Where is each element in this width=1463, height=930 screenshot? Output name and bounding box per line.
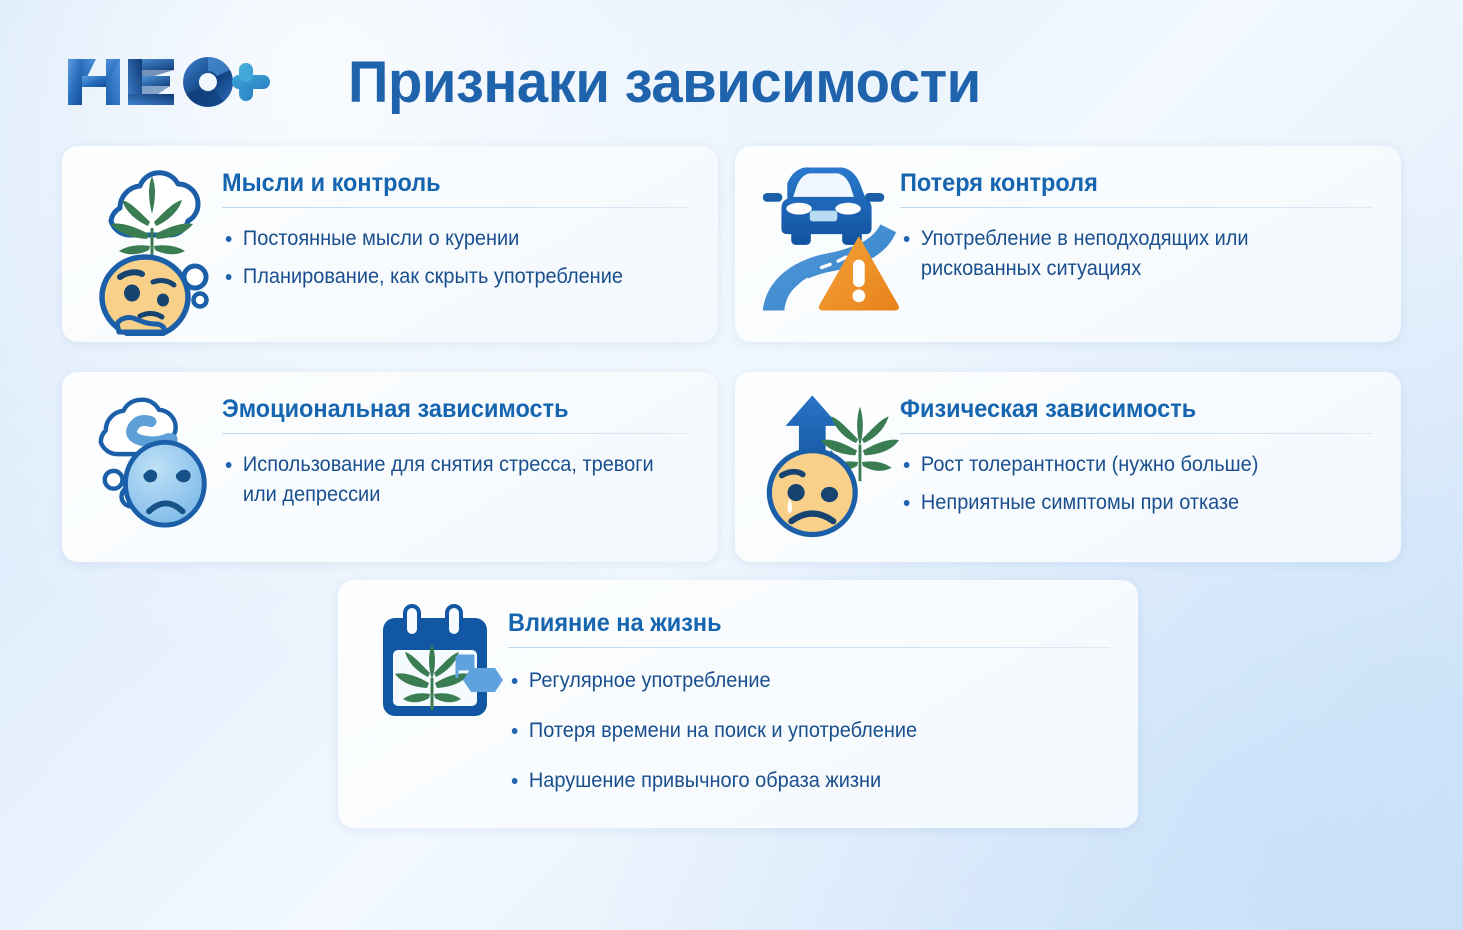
card-impact-on-life: Влияние на жизнь Регулярное употребление… [338, 580, 1138, 828]
card-physical-dependence: Физическая зависимость Рост толерантност… [735, 372, 1401, 562]
title-divider [222, 207, 690, 209]
card-body: Эмоциональная зависимость Использование … [222, 372, 718, 510]
card-title: Физическая зависимость [900, 396, 1345, 424]
calendar-with-cannabis-leaf-icon [338, 580, 508, 724]
thinking-face-with-cannabis-thought-bubble-icon [62, 146, 222, 336]
card-loss-of-control: Потеря контроля Употребление в неподходя… [735, 146, 1401, 342]
title-divider [900, 207, 1373, 209]
card-body: Физическая зависимость Рост толерантност… [900, 372, 1401, 518]
card-title: Потеря контроля [900, 170, 1345, 198]
page-header: Признаки зависимости [0, 34, 1463, 130]
bullet-list: Употребление в неподходящих или рискован… [900, 224, 1373, 284]
card-title: Влияние на жизнь [508, 610, 1074, 638]
card-thoughts-and-control: Мысли и контроль Постоянные мысли о куре… [62, 146, 718, 342]
sweating-face-with-up-arrow-and-cannabis-leaf-icon [735, 372, 900, 544]
list-item: Рост толерантности (нужно больше) [900, 450, 1349, 480]
title-divider [508, 647, 1110, 649]
card-title: Мысли и контроль [222, 170, 662, 198]
title-divider [900, 433, 1373, 435]
card-emotional-dependence: Эмоциональная зависимость Использование … [62, 372, 718, 562]
list-item: Потеря времени на поиск и употребление [508, 716, 1080, 746]
sad-blue-face-with-smoke-thought-cloud-icon [62, 372, 222, 534]
page-title: Признаки зависимости [348, 49, 981, 116]
list-item: Регулярное употребление [508, 666, 1080, 696]
car-on-road-with-warning-triangle-icon [735, 146, 900, 320]
card-body: Потеря контроля Употребление в неподходя… [900, 146, 1401, 284]
title-divider [222, 433, 690, 435]
list-item: Постоянные мысли о курении [222, 224, 667, 254]
list-item: Планирование, как скрыть употребление [222, 262, 667, 292]
list-item: Нарушение привычного образа жизни [508, 766, 1080, 796]
list-item: Использование для снятия стресса, тревог… [222, 450, 667, 510]
bullet-list: Регулярное употребление Потеря времени н… [508, 666, 1110, 797]
card-title: Эмоциональная зависимость [222, 396, 662, 424]
list-item: Употребление в неподходящих или рискован… [900, 224, 1349, 284]
bullet-list: Постоянные мысли о курении Планирование,… [222, 224, 690, 292]
neo-plus-logo [62, 51, 280, 113]
card-body: Влияние на жизнь Регулярное употребление… [508, 580, 1138, 817]
bullet-list: Использование для снятия стресса, тревог… [222, 450, 690, 510]
list-item: Неприятные симптомы при отказе [900, 488, 1349, 518]
bullet-list: Рост толерантности (нужно больше) Неприя… [900, 450, 1373, 518]
card-body: Мысли и контроль Постоянные мысли о куре… [222, 146, 718, 292]
